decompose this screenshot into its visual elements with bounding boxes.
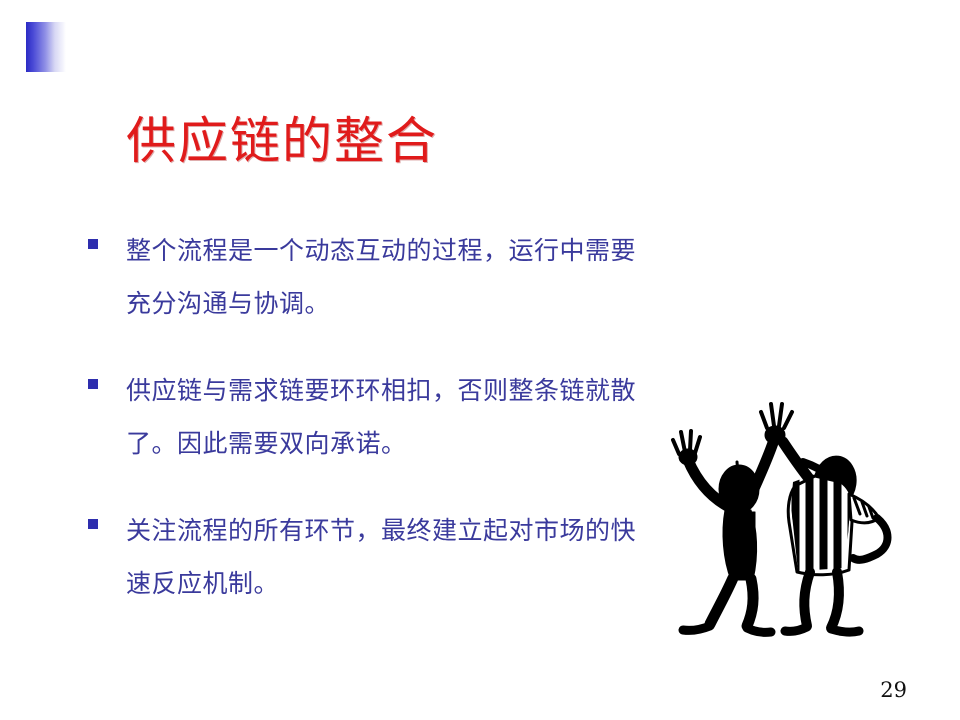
slide: 供应链的整合 整个流程是一个动态互动的过程，运行中需要充分沟通与协调。 供应链与… <box>0 0 960 720</box>
list-item-text: 关注流程的所有环节，最终建立起对市场的快速反应机制。 <box>126 504 644 610</box>
list-item-text: 整个流程是一个动态互动的过程，运行中需要充分沟通与协调。 <box>126 224 644 330</box>
square-bullet-icon <box>88 239 98 249</box>
list-item-text: 供应链与需求链要环环相扣，否则整条链就散了。因此需要双向承诺。 <box>126 364 644 470</box>
celebration-figures-illustration <box>655 382 940 657</box>
corner-gradient-decoration <box>26 22 66 72</box>
list-item: 整个流程是一个动态互动的过程，运行中需要充分沟通与协调。 <box>84 224 644 330</box>
list-item: 供应链与需求链要环环相扣，否则整条链就散了。因此需要双向承诺。 <box>84 364 644 470</box>
list-item: 关注流程的所有环节，最终建立起对市场的快速反应机制。 <box>84 504 644 610</box>
page-number: 29 <box>880 678 907 702</box>
bullet-list: 整个流程是一个动态互动的过程，运行中需要充分沟通与协调。 供应链与需求链要环环相… <box>84 224 644 610</box>
square-bullet-icon <box>88 379 98 389</box>
square-bullet-icon <box>88 519 98 529</box>
page-title: 供应链的整合 <box>126 112 438 171</box>
